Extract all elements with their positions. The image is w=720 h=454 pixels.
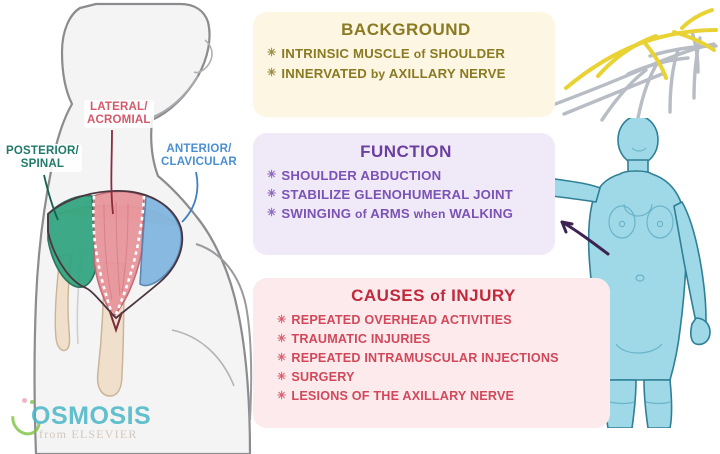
card-causes-of-injury: CAUSES of INJURY ✳ REPEATED OVERHEAD ACT… [253, 278, 610, 428]
label-posterior-spinal: POSTERIOR/ SPINAL [3, 144, 82, 172]
bullet-icon: ✳ [267, 204, 276, 223]
list-item: ✳ TRAUMATIC INJURIES [277, 330, 600, 349]
card-background-list: ✳ INTRINSIC MUSCLE of SHOULDER ✳ INNERVA… [267, 44, 545, 84]
list-item: ✳ SWINGING of ARMS when WALKING [267, 204, 545, 224]
list-item: ✳ SHOULDER ABDUCTION [267, 166, 545, 185]
list-item-text: SWINGING of ARMS when WALKING [281, 204, 513, 224]
shoulder-anatomy-illustration [0, 0, 260, 454]
label-anterior-clavicular: ANTERIOR/ CLAVICULAR [158, 142, 240, 170]
list-item-text: TRAUMATIC INJURIES [291, 330, 430, 349]
card-causes-title: CAUSES of INJURY [267, 286, 600, 307]
list-item: ✳ LESIONS OF THE AXILLARY NERVE [277, 387, 600, 406]
axillary-nerve-illustration [542, 2, 720, 122]
bullet-icon: ✳ [267, 44, 276, 63]
list-item-text: LESIONS OF THE AXILLARY NERVE [291, 387, 514, 406]
list-item-text: REPEATED OVERHEAD ACTIVITIES [291, 311, 511, 330]
bullet-icon: ✳ [277, 349, 286, 368]
list-item: ✳ STABILIZE GLENOHUMERAL JOINT [267, 185, 545, 204]
bullet-icon: ✳ [267, 166, 276, 185]
card-causes-list: ✳ REPEATED OVERHEAD ACTIVITIES ✳ TRAUMAT… [267, 311, 600, 406]
card-background: BACKGROUND ✳ INTRINSIC MUSCLE of SHOULDE… [253, 12, 555, 117]
osmosis-logo: OSMOSIS from ELSEVIER [6, 398, 156, 446]
list-item: ✳ REPEATED OVERHEAD ACTIVITIES [277, 311, 600, 330]
bullet-icon: ✳ [267, 64, 276, 83]
card-function-list: ✳ SHOULDER ABDUCTION ✳ STABILIZE GLENOHU… [267, 166, 545, 224]
bullet-icon: ✳ [277, 311, 286, 330]
infographic-canvas: LATERAL/ ACROMIAL POSTERIOR/ SPINAL ANTE… [0, 0, 720, 454]
list-item-text: SURGERY [291, 368, 354, 387]
card-background-title: BACKGROUND [267, 20, 545, 40]
bullet-icon: ✳ [277, 387, 286, 406]
bullet-icon: ✳ [277, 368, 286, 387]
logo-dot-pink-icon [22, 398, 27, 403]
label-lateral-acromial: LATERAL/ ACROMIAL [84, 100, 154, 128]
list-item: ✳ SURGERY [277, 368, 600, 387]
bullet-icon: ✳ [267, 185, 276, 204]
card-function: FUNCTION ✳ SHOULDER ABDUCTION ✳ STABILIZ… [253, 133, 555, 255]
list-item: ✳ REPEATED INTRAMUSCULAR INJECTIONS [277, 349, 600, 368]
list-item: ✳ INNERVATED by AXILLARY NERVE [267, 64, 545, 84]
list-item-text: REPEATED INTRAMUSCULAR INJECTIONS [291, 349, 558, 368]
list-item-text: STABILIZE GLENOHUMERAL JOINT [281, 185, 513, 204]
bullet-icon: ✳ [277, 330, 286, 349]
list-item-text: INTRINSIC MUSCLE of SHOULDER [281, 44, 505, 64]
card-function-title: FUNCTION [267, 142, 545, 162]
list-item-text: INNERVATED by AXILLARY NERVE [281, 64, 505, 84]
list-item-text: SHOULDER ABDUCTION [281, 166, 441, 185]
list-item: ✳ INTRINSIC MUSCLE of SHOULDER [267, 44, 545, 64]
logo-subtitle: from ELSEVIER [39, 427, 138, 442]
